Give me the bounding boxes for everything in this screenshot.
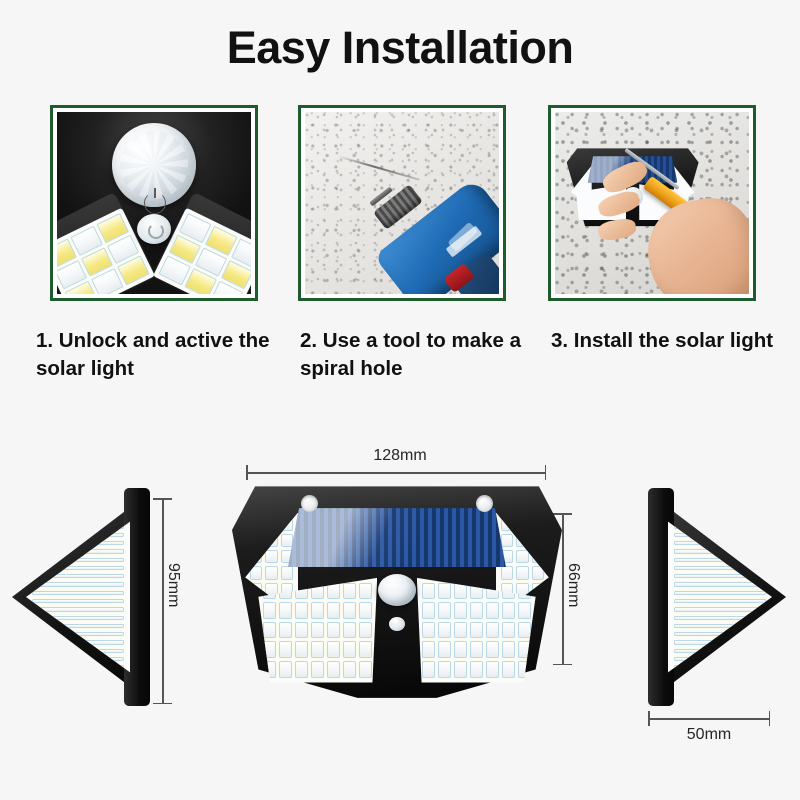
step-image-panel-3 bbox=[548, 105, 756, 301]
side-view-led-panel bbox=[668, 519, 772, 676]
dimension-line-width bbox=[246, 472, 546, 474]
pir-sensor-dome-icon bbox=[378, 574, 416, 606]
product-view-left bbox=[8, 488, 158, 706]
step-2-illustration bbox=[305, 112, 499, 294]
product-view-right bbox=[640, 488, 790, 706]
step-caption-2: 2. Use a tool to make a spiral hole bbox=[300, 327, 535, 384]
dimension-cap-left bbox=[246, 465, 248, 480]
dimension-label-depth-bottom: 50mm bbox=[648, 726, 770, 744]
step-image-panel-2 bbox=[298, 105, 506, 301]
dimension-cap-right bbox=[769, 711, 771, 726]
mounting-hole-right bbox=[476, 495, 493, 512]
dimension-label-width: 128mm bbox=[0, 447, 800, 465]
dimension-label-height: 95mm bbox=[164, 563, 182, 607]
step-3-illustration bbox=[555, 112, 749, 294]
dimension-line-depth-bottom bbox=[648, 718, 770, 720]
step-caption-3: 3. Install the solar light bbox=[551, 327, 786, 355]
power-symbol-icon bbox=[144, 192, 166, 214]
product-view-front bbox=[232, 482, 562, 700]
power-button bbox=[137, 214, 171, 244]
dimension-cap-right bbox=[545, 465, 547, 480]
side-view-led-panel bbox=[26, 519, 130, 676]
solar-panel bbox=[288, 508, 506, 567]
step-1-illustration bbox=[57, 112, 251, 294]
side-view-body bbox=[8, 488, 158, 706]
infographic-page: Easy Installation bbox=[0, 0, 800, 800]
step-caption-1: 1. Unlock and active the solar light bbox=[36, 327, 271, 384]
dimension-label-depth-right: 66mm bbox=[564, 563, 582, 607]
side-view-body bbox=[640, 488, 790, 706]
dimension-cap-left bbox=[648, 711, 650, 726]
step-image-panel-1 bbox=[50, 105, 258, 301]
page-title: Easy Installation bbox=[0, 22, 800, 74]
